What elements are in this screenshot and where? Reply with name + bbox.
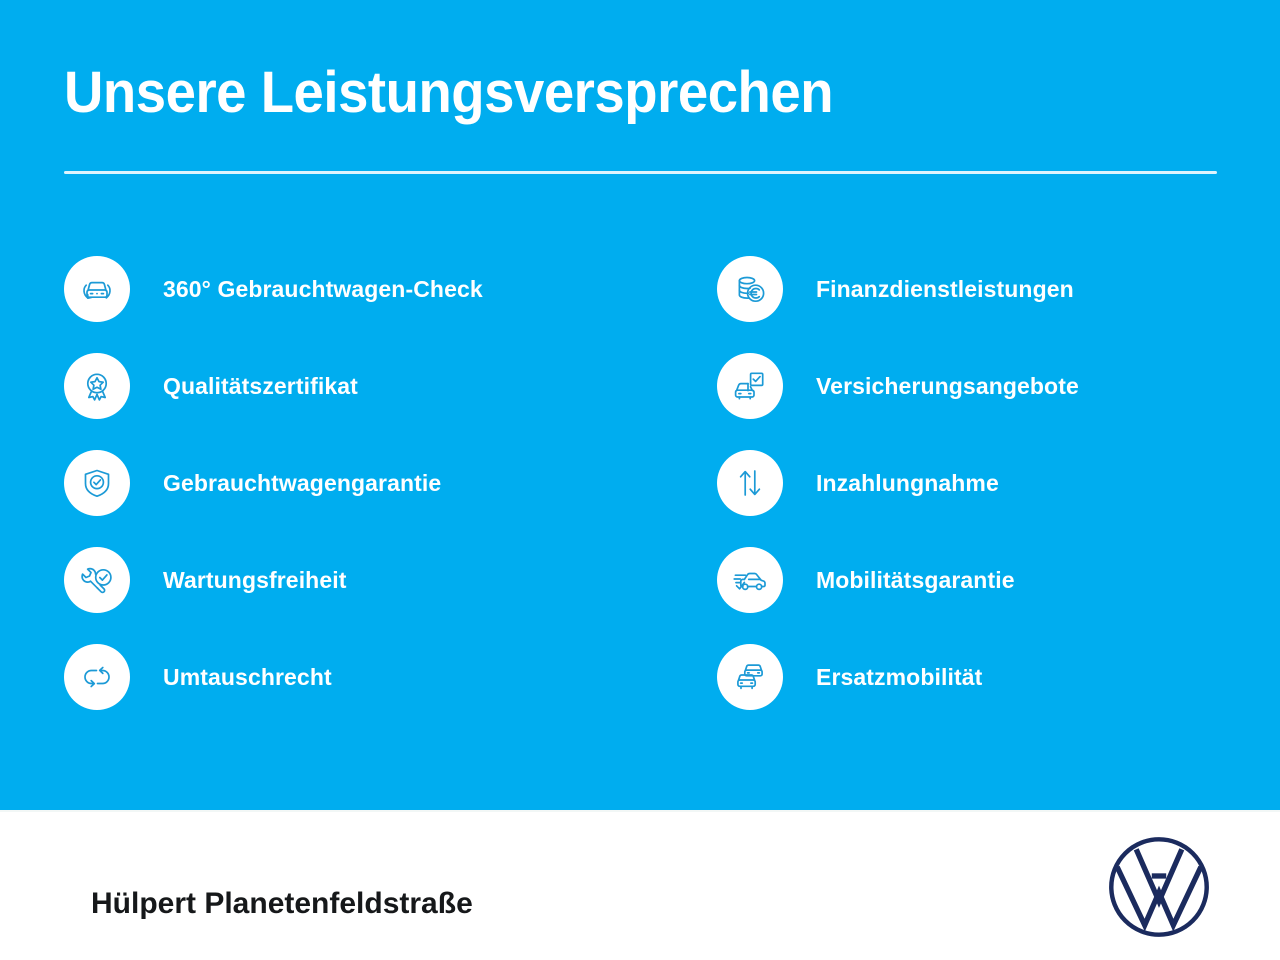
- feature-item-exchange-right: Umtauschrecht: [64, 628, 664, 725]
- features-right-column: Finanzdienstleistungen: [717, 240, 1237, 725]
- features-grid: 360° Gebrauchtwagen-Check Qualitätszerti…: [0, 240, 1280, 725]
- page-title: Unsere Leistungsversprechen: [64, 60, 833, 126]
- feature-item-maintenance-free: Wartungsfreiheit: [64, 531, 664, 628]
- quality-medal-icon: [64, 353, 130, 419]
- feature-item-warranty: Gebrauchtwagengarantie: [64, 434, 664, 531]
- car-insurance-document-icon: [717, 353, 783, 419]
- feature-item-insurance-offers: Versicherungsangebote: [717, 337, 1237, 434]
- car-motion-check-icon: [717, 547, 783, 613]
- feature-item-trade-in: Inzahlungnahme: [717, 434, 1237, 531]
- features-left-column: 360° Gebrauchtwagen-Check Qualitätszerti…: [64, 240, 664, 725]
- two-cars-icon: [717, 644, 783, 710]
- feature-label: Gebrauchtwagengarantie: [163, 469, 441, 497]
- footer-section: Hülpert Planetenfeldstraße: [0, 810, 1280, 960]
- feature-label: Versicherungsangebote: [816, 372, 1079, 400]
- feature-item-financial-services: Finanzdienstleistungen: [717, 240, 1237, 337]
- feature-label: Inzahlungnahme: [816, 469, 999, 497]
- exchange-arrows-icon: [64, 644, 130, 710]
- coins-euro-icon: [717, 256, 783, 322]
- feature-label: Ersatzmobilität: [816, 663, 982, 691]
- feature-label: Mobilitätsgarantie: [816, 566, 1015, 594]
- dealer-name: Hülpert Planetenfeldstraße: [91, 886, 473, 922]
- up-down-arrows-icon: [717, 450, 783, 516]
- feature-item-replacement-mobility: Ersatzmobilität: [717, 628, 1237, 725]
- wrench-check-icon: [64, 547, 130, 613]
- feature-label: Umtauschrecht: [163, 663, 332, 691]
- feature-label: Wartungsfreiheit: [163, 566, 346, 594]
- feature-label: Finanzdienstleistungen: [816, 275, 1074, 303]
- promise-panel: Unsere Leistungsversprechen: [0, 0, 1280, 960]
- feature-label: Qualitätszertifikat: [163, 372, 358, 400]
- shield-check-icon: [64, 450, 130, 516]
- volkswagen-logo-icon: [1106, 834, 1212, 940]
- feature-label: 360° Gebrauchtwagen-Check: [163, 275, 483, 303]
- car-360-check-icon: [64, 256, 130, 322]
- feature-item-360-check: 360° Gebrauchtwagen-Check: [64, 240, 664, 337]
- hero-section: Unsere Leistungsversprechen: [0, 0, 1280, 810]
- feature-item-mobility-guarantee: Mobilitätsgarantie: [717, 531, 1237, 628]
- feature-item-quality-certificate: Qualitätszertifikat: [64, 337, 664, 434]
- title-divider: [64, 171, 1217, 174]
